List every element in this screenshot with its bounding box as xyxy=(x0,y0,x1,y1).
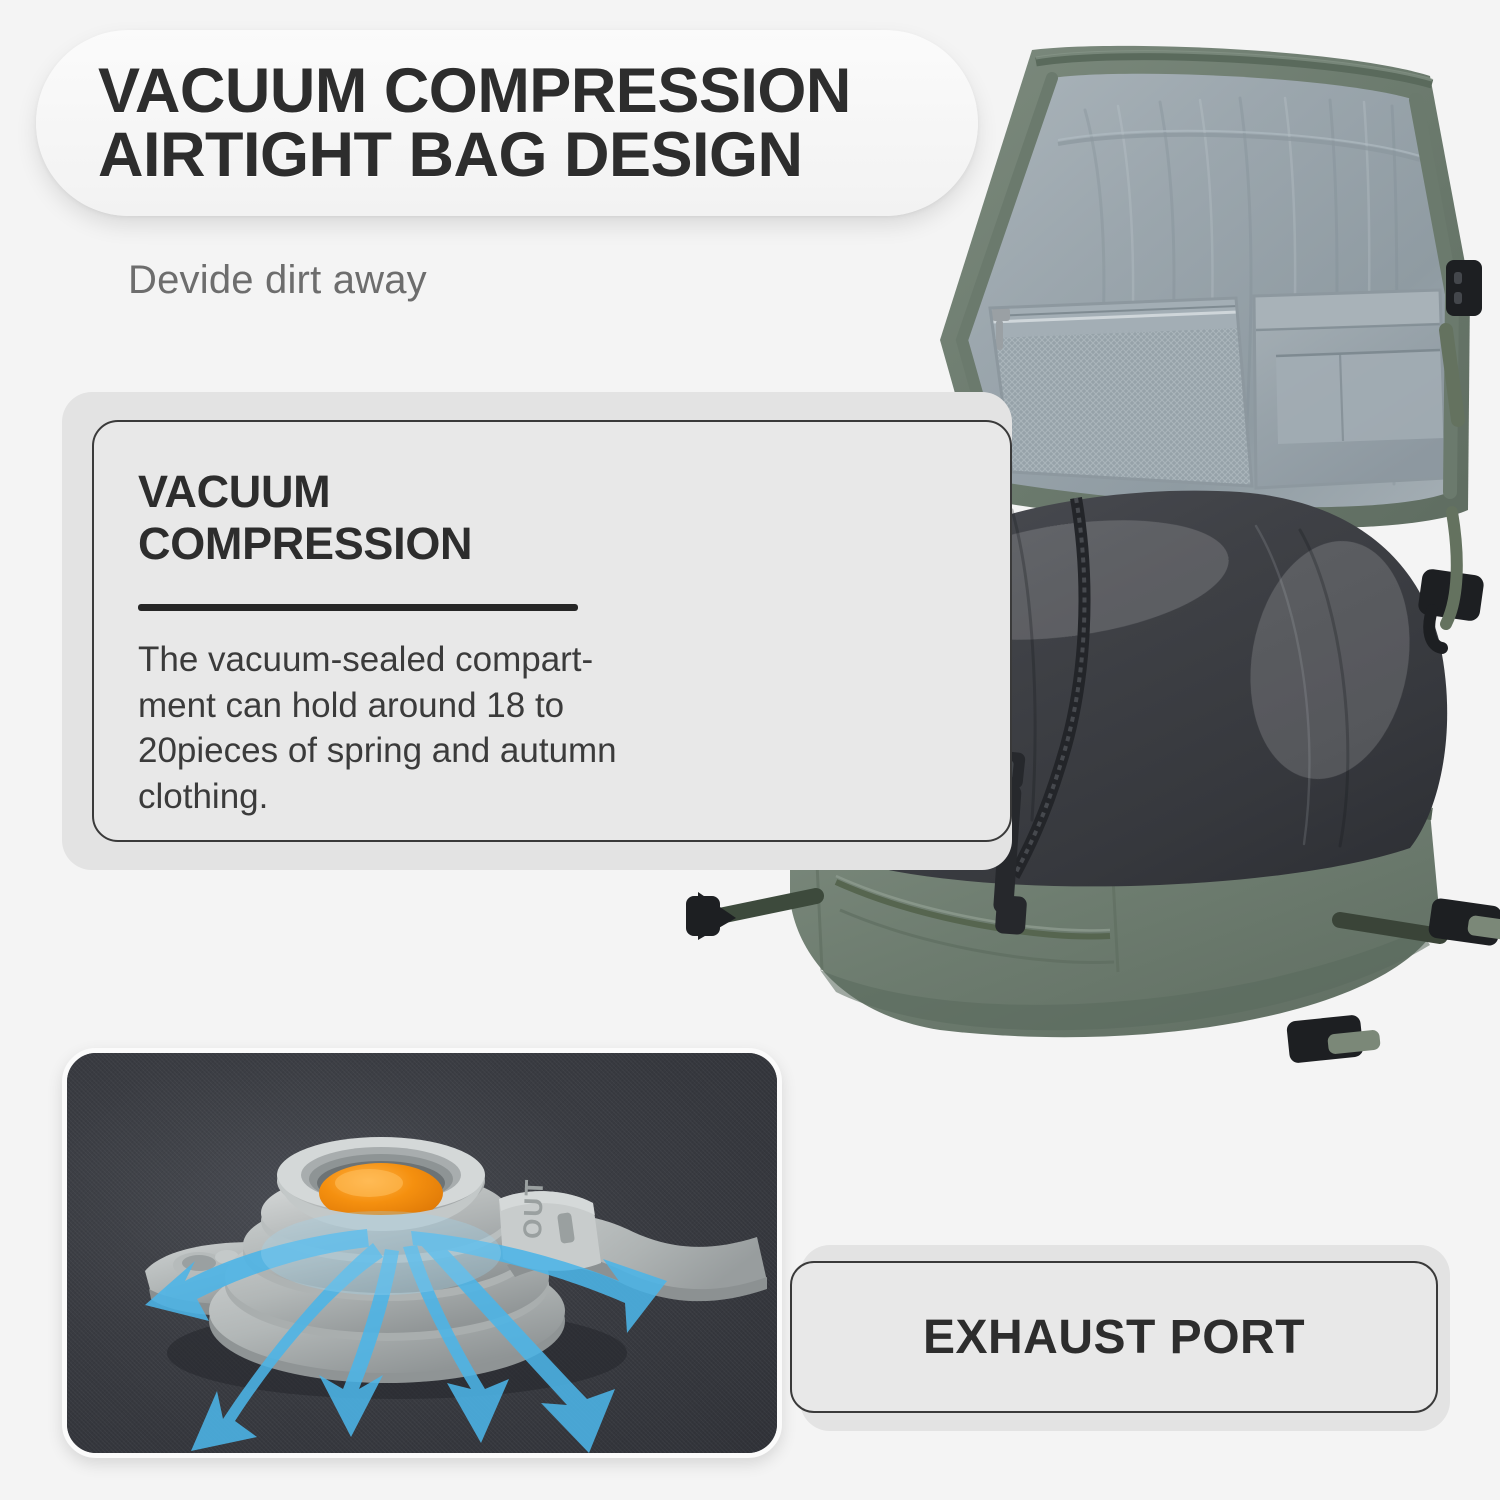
feature-body-line-1: The vacuum-sealed compart- xyxy=(138,637,718,683)
exhaust-port-label: EXHAUST PORT xyxy=(923,1310,1305,1365)
feature-heading-line-1: VACUUM xyxy=(138,466,1010,518)
infographic-page: VACUUM COMPRESSION AIRTIGHT BAG DESIGN D… xyxy=(0,0,1500,1500)
exhaust-port-card: EXHAUST PORT xyxy=(790,1261,1438,1413)
feature-body-line-2: ment can hold around 18 to xyxy=(138,683,718,729)
slip-pockets xyxy=(1254,290,1446,488)
out-text: OUT xyxy=(517,1177,549,1239)
feature-body-line-3: 20pieces of spring and autumn xyxy=(138,728,718,774)
mesh-zip-pocket xyxy=(990,298,1252,486)
feature-card: VACUUM COMPRESSION The vacuum-sealed com… xyxy=(92,420,1012,842)
backpack-lid xyxy=(940,46,1470,528)
shoulder-strap-webbing xyxy=(1446,512,1457,624)
exhaust-valve-photo: OUT xyxy=(62,1048,782,1458)
arrow-overlap-tint xyxy=(261,1211,501,1295)
feature-body: The vacuum-sealed compart- ment can hold… xyxy=(138,637,718,819)
feature-body-line-4: clothing. xyxy=(138,774,718,820)
subtitle: Devide dirt away xyxy=(128,258,427,303)
valve-illustration: OUT xyxy=(67,1053,777,1453)
buckle-bottom xyxy=(1286,1014,1381,1064)
buckle-upper xyxy=(1446,260,1482,316)
feature-heading-line-2: COMPRESSION xyxy=(138,518,1010,570)
feature-divider xyxy=(138,604,578,611)
